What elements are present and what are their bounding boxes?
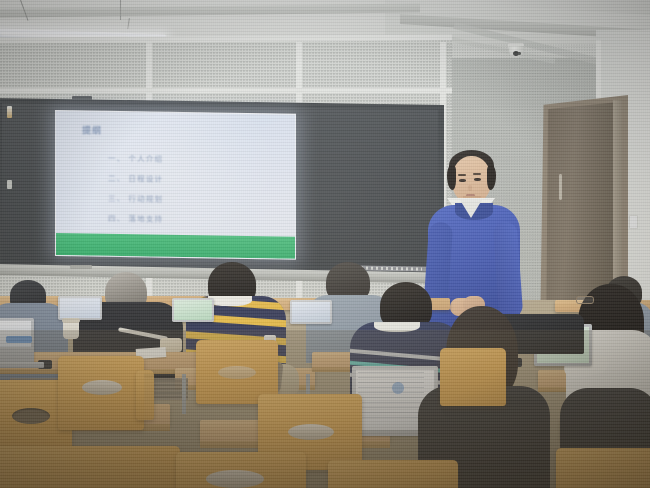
camera-lens-secondary-icon [518, 52, 521, 55]
slide-item-1-text: 个人介绍 [128, 154, 163, 164]
slide-item-4: 四、落地支持 [108, 213, 163, 225]
slide-item-1-num: 一、 [108, 154, 125, 163]
slide-outline-list: 一、个人介绍 二、日程设计 三、行动规划 四、落地支持 [108, 153, 163, 234]
door-handle-icon[interactable] [559, 174, 562, 200]
attendee-striped-collar [208, 296, 252, 306]
board-side-marker [7, 106, 12, 118]
slide-accent-band [56, 233, 295, 259]
slide-item-4-text: 落地支持 [128, 214, 163, 224]
hanging-wire-2 [120, 0, 121, 20]
presenter-eye-left [459, 179, 466, 182]
board-top-clip [72, 96, 92, 100]
slide-item-3: 三、行动规划 [108, 193, 163, 205]
board-side-button[interactable] [7, 180, 12, 189]
laptop-2[interactable] [172, 298, 214, 322]
slide-item-2: 二、日程设计 [108, 173, 163, 185]
coffee-cup-1-lid [62, 318, 80, 323]
presenter-eyebrow-right [473, 173, 481, 175]
light-switch[interactable] [629, 215, 638, 229]
laptop-1-screen [60, 298, 100, 318]
board-bottom-clip [70, 265, 92, 269]
presenter-eye-right [474, 178, 481, 181]
glasses-icon [576, 296, 594, 304]
slide-title: 提纲 [82, 123, 102, 136]
slide-item-3-text: 行动规划 [128, 194, 163, 204]
slide-item-2-num: 二、 [108, 174, 125, 183]
classroom-photo: 提纲 一、个人介绍 二、日程设计 三、行动规划 四、落地支持 [0, 0, 650, 488]
presenter-nose [468, 185, 472, 191]
floor-shadow [0, 330, 650, 488]
wall-seam-h [0, 88, 452, 93]
laptop-1[interactable] [58, 296, 102, 320]
laptop-3-screen [292, 302, 330, 322]
slide-item-4-num: 四、 [108, 214, 125, 223]
laptop-2-screen [174, 300, 212, 320]
laptop-3[interactable] [290, 300, 332, 324]
presenter-eyebrow-left [458, 174, 466, 176]
slide-item-1: 一、个人介绍 [108, 153, 163, 165]
presenter-hair-left [447, 166, 456, 190]
projected-slide: 提纲 一、个人介绍 二、日程设计 三、行动规划 四、落地支持 [55, 110, 296, 260]
slide-item-3-num: 三、 [108, 194, 125, 203]
slide-item-2-text: 日程设计 [128, 174, 163, 184]
